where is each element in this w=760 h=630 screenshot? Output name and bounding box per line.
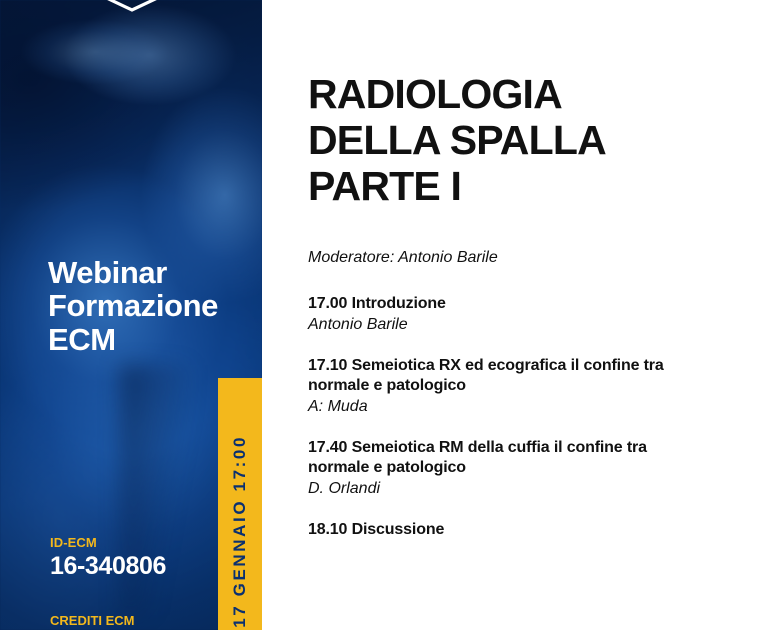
date-ribbon-text: 17 GENNAIO 17:00 <box>218 435 262 628</box>
headline-line-3: ECM <box>48 323 248 356</box>
program-item: 17.00 Introduzione Antonio Barile <box>308 294 708 336</box>
program-item-title: 17.10 Semeiotica RX ed ecografica il con… <box>308 356 708 396</box>
program-item-speaker: D. Orlandi <box>308 479 708 500</box>
crediti-ecm-label: CREDITI ECM <box>50 614 240 629</box>
crediti-ecm-block: CREDITI ECM <box>50 614 240 629</box>
program-item: 17.10 Semeiotica RX ed ecografica il con… <box>308 356 708 418</box>
program-item-title: 18.10 Discussione <box>308 520 708 540</box>
page-title: RADIOLOGIA DELLA SPALLA PARTE I <box>308 72 738 210</box>
ecm-badge-logo-icon <box>84 0 180 26</box>
title-line-3: PARTE I <box>308 164 738 210</box>
program-item-speaker: A: Muda <box>308 397 708 418</box>
title-line-1: RADIOLOGIA <box>308 72 738 118</box>
panel-headline: Webinar Formazione ECM <box>48 256 248 356</box>
id-ecm-block: ID-ECM 16-340806 <box>50 536 240 580</box>
program-item-title: 17.00 Introduzione <box>308 294 708 314</box>
webinar-poster: Webinar Formazione ECM ID-ECM 16-340806 … <box>0 0 760 630</box>
date-ribbon: 17 GENNAIO 17:00 <box>218 378 262 630</box>
title-line-2: DELLA SPALLA <box>308 118 738 164</box>
program-list: Moderatore: Antonio Barile 17.00 Introdu… <box>308 248 708 540</box>
program-item: 18.10 Discussione <box>308 520 708 540</box>
main-content: RADIOLOGIA DELLA SPALLA PARTE I Moderato… <box>308 0 760 630</box>
program-item-speaker: Antonio Barile <box>308 315 708 336</box>
headline-line-2: Formazione <box>48 289 248 322</box>
id-ecm-label: ID-ECM <box>50 536 240 551</box>
left-blue-panel: Webinar Formazione ECM ID-ECM 16-340806 … <box>0 0 262 630</box>
program-item: 17.40 Semeiotica RM della cuffia il conf… <box>308 438 708 500</box>
id-ecm-value: 16-340806 <box>50 552 240 580</box>
moderator-line: Moderatore: Antonio Barile <box>308 248 708 269</box>
program-item-title: 17.40 Semeiotica RM della cuffia il conf… <box>308 438 708 478</box>
headline-line-1: Webinar <box>48 256 248 289</box>
